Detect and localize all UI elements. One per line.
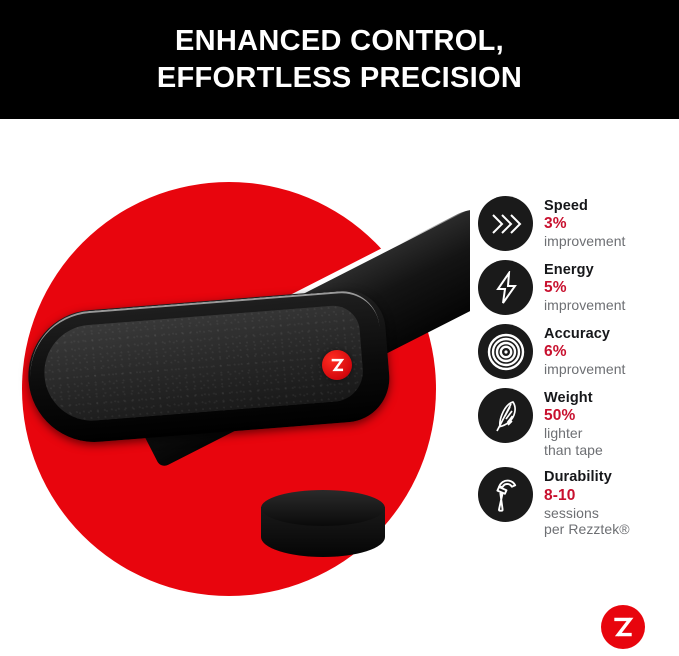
z-logo-icon	[609, 613, 637, 641]
durability-hammer-icon	[478, 467, 533, 522]
energy-bolt-icon	[478, 260, 533, 315]
hockey-puck	[261, 490, 385, 564]
feature-row-energy: Energy 5% improvement	[478, 260, 679, 315]
header-title-line-1: ENHANCED CONTROL,	[175, 23, 504, 60]
speed-chevrons-icon	[478, 196, 533, 251]
feature-text-durability: Durability 8-10 sessions per Rezztek®	[544, 467, 630, 537]
product-image-stage	[0, 119, 470, 656]
feature-detail-secondary: per Rezztek®	[544, 521, 630, 538]
feature-value: 5%	[544, 279, 625, 297]
feature-row-weight: Weight 50% lighter than tape	[478, 388, 679, 458]
feature-detail: improvement	[544, 361, 625, 378]
feature-row-speed: Speed 3% improvement	[478, 196, 679, 251]
feature-text-energy: Energy 5% improvement	[544, 260, 625, 314]
feature-list: Speed 3% improvement Energy 5% improveme…	[478, 196, 679, 547]
puck-top-face	[261, 490, 385, 526]
feature-title: Energy	[544, 262, 625, 279]
accuracy-target-icon	[478, 324, 533, 379]
feature-value: 50%	[544, 407, 603, 425]
feature-row-durability: Durability 8-10 sessions per Rezztek®	[478, 467, 679, 537]
header-title-line-2: EFFORTLESS PRECISION	[157, 60, 522, 97]
header-banner: ENHANCED CONTROL, EFFORTLESS PRECISION	[0, 0, 679, 119]
feature-value: 8-10	[544, 487, 630, 505]
feature-title: Weight	[544, 390, 603, 407]
feature-text-speed: Speed 3% improvement	[544, 196, 625, 250]
z-logo-icon	[328, 356, 346, 374]
feature-row-accuracy: Accuracy 6% improvement	[478, 324, 679, 379]
feature-detail: lighter	[544, 425, 603, 442]
weight-feather-icon	[478, 388, 533, 443]
feature-title: Durability	[544, 469, 630, 486]
feature-title: Speed	[544, 198, 625, 215]
feature-title: Accuracy	[544, 326, 625, 343]
brand-logo	[601, 605, 645, 649]
feature-text-accuracy: Accuracy 6% improvement	[544, 324, 625, 378]
feature-value: 3%	[544, 215, 625, 233]
feature-detail: improvement	[544, 297, 625, 314]
feature-detail: improvement	[544, 233, 625, 250]
feature-detail-secondary: than tape	[544, 442, 603, 459]
feature-text-weight: Weight 50% lighter than tape	[544, 388, 603, 458]
product-z-badge	[322, 350, 352, 380]
feature-value: 6%	[544, 343, 625, 361]
feature-detail: sessions	[544, 505, 630, 522]
